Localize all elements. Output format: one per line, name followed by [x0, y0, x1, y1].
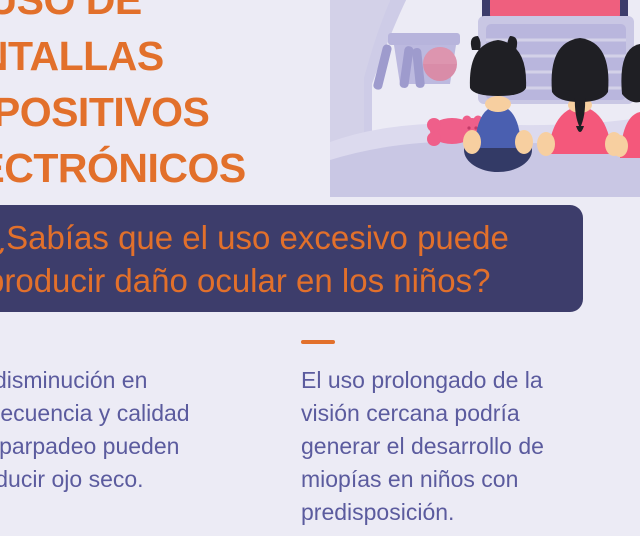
child-third-arm [612, 135, 628, 157]
fact-right-line-2: visión cercana podría [301, 397, 591, 430]
fact-right-line-1: El uso prolongado de la [301, 364, 591, 397]
fact-right-line-5: predisposición. [301, 496, 591, 529]
fact-column-right: El uso prolongado de la visión cercana p… [301, 340, 591, 529]
fact-left-line-2: la frecuencia y calidad [0, 397, 222, 430]
fact-left-line-1: La disminución en [0, 364, 222, 397]
question-line-1: ¿Sabías que el uso excesivo puede [0, 216, 565, 259]
fact-text-right: El uso prolongado de la visión cercana p… [301, 364, 591, 529]
title-line-3: DISPOSITIVOS [0, 84, 346, 140]
fact-left-line-4: producir ojo seco. [0, 463, 222, 496]
fact-right-line-3: generar el desarrollo de [301, 430, 591, 463]
fact-text-left: La disminución en la frecuencia y calida… [0, 364, 222, 496]
title-line-2: PANTALLAS [0, 28, 346, 84]
title-line-4: ELECTRÓNICOS [0, 140, 346, 196]
fact-left-line-3: del parpadeo pueden [0, 430, 222, 463]
question-banner: ¿Sabías que el uso excesivo puede produc… [0, 205, 583, 312]
child-boy-arm-left [463, 130, 481, 154]
infographic-page: EL USO DE PANTALLAS DISPOSITIVOS ELECTRÓ… [0, 0, 640, 536]
question-line-2: producir daño ocular en los niños? [0, 259, 565, 302]
column-dash-right [301, 340, 335, 344]
child-boy-arm-right [515, 130, 533, 154]
illustration-children-watching-screen [330, 0, 640, 197]
fact-right-line-4: miopías en niños con [301, 463, 591, 496]
child-boy-neck [485, 96, 511, 112]
illustration-svg [330, 0, 640, 197]
fact-columns: La disminución en la frecuencia y calida… [0, 340, 640, 536]
title-line-1: EL USO DE [0, 0, 346, 28]
fact-column-left: La disminución en la frecuencia y calida… [0, 340, 222, 496]
page-title: EL USO DE PANTALLAS DISPOSITIVOS ELECTRÓ… [0, 0, 346, 196]
child-girl-arm-left [537, 132, 555, 156]
